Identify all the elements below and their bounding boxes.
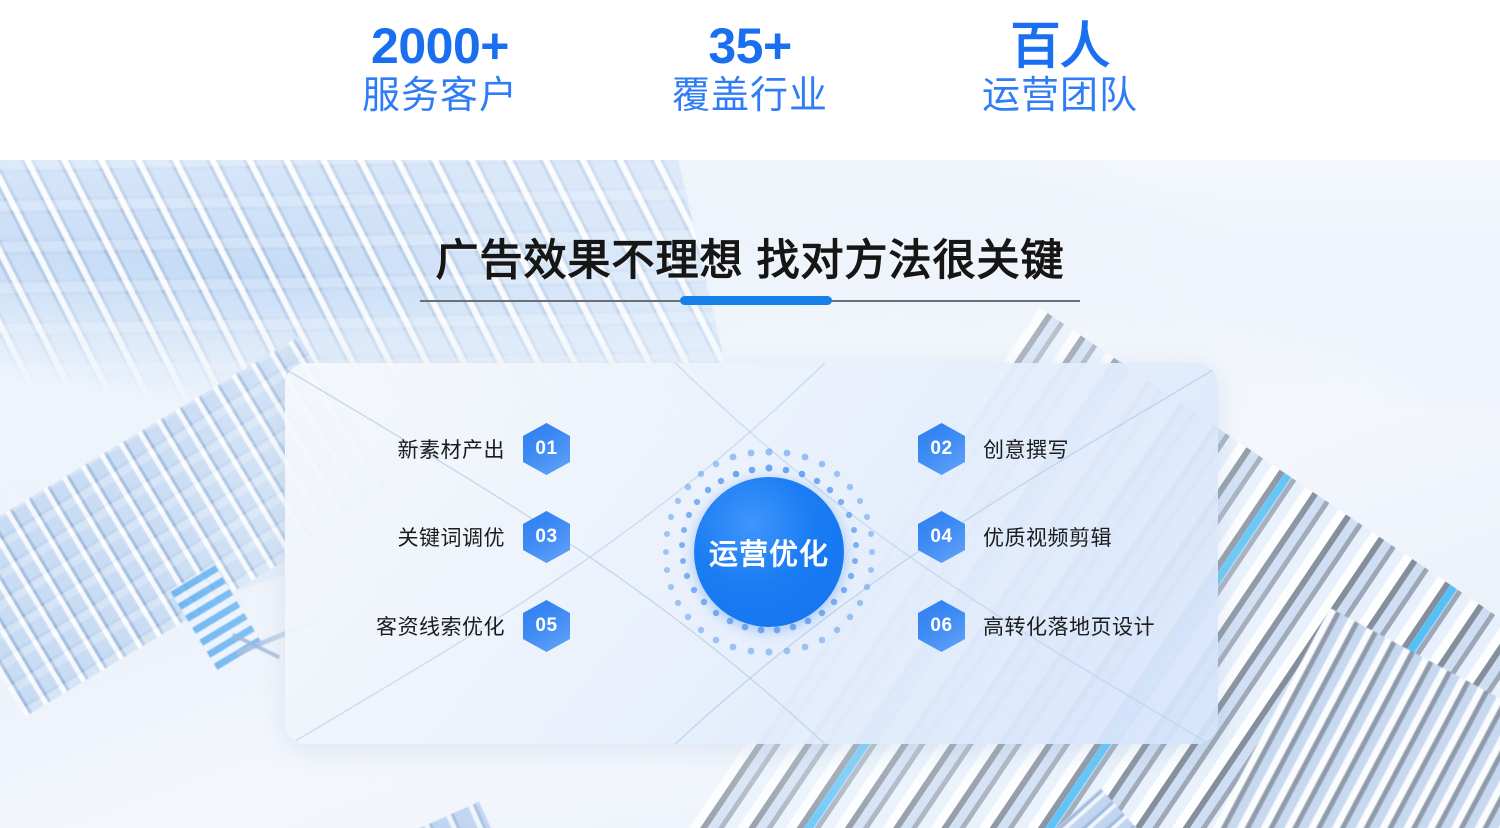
headline-container: 广告效果不理想 找对方法很关键 xyxy=(0,236,1500,288)
stat-item-team: 百人 运营团队 xyxy=(920,18,1200,119)
stat-item-clients: 2000+ 服务客户 xyxy=(300,18,580,119)
promo-banner: 2000+ 服务客户 35+ 覆盖行业 百人 运营团队 xyxy=(0,0,1500,828)
hexagon-badge-04: 04 xyxy=(918,511,965,563)
process-item-04-label: 优质视频剪辑 xyxy=(983,522,1112,552)
hexagon-number-04: 04 xyxy=(930,526,952,548)
stats-row: 2000+ 服务客户 35+ 覆盖行业 百人 运营团队 xyxy=(300,18,1200,143)
hexagon-badge-03: 03 xyxy=(523,511,570,563)
process-item-06[interactable]: 06 高转化落地页设计 xyxy=(918,600,1218,652)
stat-label-industries: 覆盖行业 xyxy=(610,74,890,119)
stats-band: 2000+ 服务客户 35+ 覆盖行业 百人 运营团队 xyxy=(0,0,1500,160)
stat-label-clients: 服务客户 xyxy=(300,74,580,119)
center-core-circle: 运营优化 xyxy=(694,477,844,627)
hexagon-number-01: 01 xyxy=(535,438,557,460)
stat-label-team: 运营团队 xyxy=(920,74,1200,119)
hexagon-number-02: 02 xyxy=(930,438,952,460)
process-item-03-label: 关键词调优 xyxy=(398,522,506,552)
stat-number-industries: 35+ xyxy=(610,18,890,74)
center-node: 运营优化 xyxy=(655,438,883,666)
hexagon-number-06: 06 xyxy=(930,615,952,637)
hexagon-number-03: 03 xyxy=(535,526,557,548)
page-title: 广告效果不理想 找对方法很关键 xyxy=(0,236,1500,288)
process-item-01[interactable]: 新素材产出 01 xyxy=(300,423,570,475)
hexagon-number-05: 05 xyxy=(535,615,557,637)
hexagon-badge-01: 01 xyxy=(523,423,570,475)
process-item-04[interactable]: 04 优质视频剪辑 xyxy=(918,511,1218,563)
hexagon-badge-06: 06 xyxy=(918,600,965,652)
process-item-02[interactable]: 02 创意撰写 xyxy=(918,423,1218,475)
process-item-06-label: 高转化落地页设计 xyxy=(983,611,1155,641)
hexagon-badge-02: 02 xyxy=(918,423,965,475)
process-item-05[interactable]: 客资线索优化 05 xyxy=(300,600,570,652)
process-item-05-label: 客资线索优化 xyxy=(376,611,505,641)
center-core-label: 运营优化 xyxy=(709,531,829,573)
stat-number-clients: 2000+ xyxy=(300,18,580,74)
hexagon-badge-05: 05 xyxy=(523,600,570,652)
process-item-01-label: 新素材产出 xyxy=(398,434,506,464)
stat-number-team: 百人 xyxy=(920,18,1200,74)
process-item-03[interactable]: 关键词调优 03 xyxy=(300,511,570,563)
stat-item-industries: 35+ 覆盖行业 xyxy=(610,18,890,119)
title-accent-bar xyxy=(680,296,832,305)
process-item-02-label: 创意撰写 xyxy=(983,434,1069,464)
